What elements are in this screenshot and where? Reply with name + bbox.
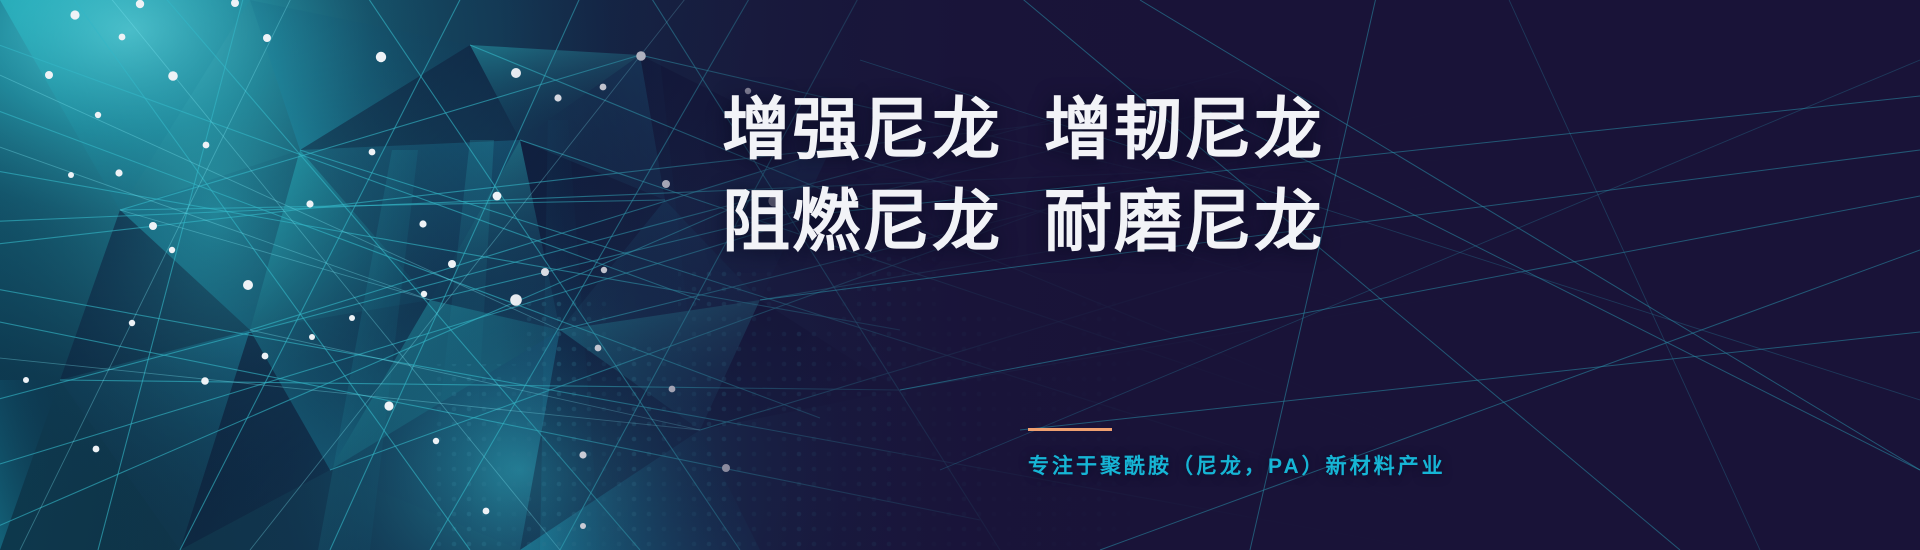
- headline-line-2: 阻燃尼龙耐磨尼龙: [722, 176, 1622, 268]
- headline-line2-right: 耐磨尼龙: [1044, 184, 1324, 260]
- tagline-text: 专注于聚酰胺（尼龙，PA）新材料产业: [1028, 450, 1446, 480]
- headline-line1-right: 增韧尼龙: [1044, 92, 1324, 168]
- hero-banner: 增强尼龙增韧尼龙 阻燃尼龙耐磨尼龙 专注于聚酰胺（尼龙，PA）新材料产业: [0, 0, 1920, 550]
- tagline-block: 专注于聚酰胺（尼龙，PA）新材料产业: [1028, 428, 1446, 480]
- headline-line2-left: 阻燃尼龙: [722, 184, 1002, 260]
- headline-block: 增强尼龙增韧尼龙 阻燃尼龙耐磨尼龙: [722, 84, 1622, 268]
- headline-line1-left: 增强尼龙: [722, 92, 1002, 168]
- orange-divider-rule: [1028, 428, 1112, 431]
- network-lines-right-layer: [0, 0, 1920, 550]
- headline-line-1: 增强尼龙增韧尼龙: [722, 84, 1622, 176]
